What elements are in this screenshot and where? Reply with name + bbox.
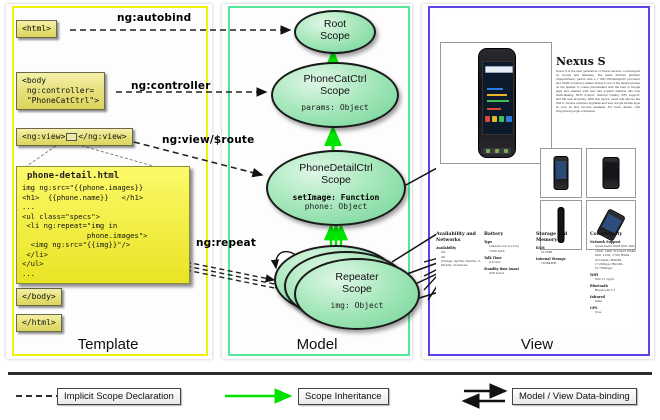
screen-accent-3 <box>487 100 509 102</box>
scope-repeater-line1: Repeater <box>335 271 378 283</box>
spec-header-battery: Battery <box>484 232 532 238</box>
phone-app-icons <box>485 116 512 122</box>
spec-val-bluetooth: Bluetooth 2.1 <box>590 288 636 292</box>
spec-val-battery-talk: 6 hours <box>484 260 532 264</box>
label-ng-view-route: ng:view/$route <box>162 134 254 146</box>
scope-root-line2: Scope <box>320 30 350 42</box>
scope-phonedetailctrl: PhoneDetailCtrlScope setImage: Function … <box>266 150 406 226</box>
thumbnail-2[interactable] <box>586 148 636 198</box>
legend-divider <box>8 372 652 375</box>
spec-val-ram: 512MB <box>536 250 588 254</box>
thumbnail-1[interactable] <box>540 148 582 198</box>
legend-implicit-scope-declaration: Implicit Scope Declaration <box>57 388 181 405</box>
tag-body-close: </body> <box>16 288 62 306</box>
spec-val-network: Quad-band GSM 850, 900, 1800, 1900 Tri-b… <box>590 244 636 270</box>
spec-val-battery-standby: 428 hours <box>484 271 532 275</box>
sticky-note-phone-detail: phone-detail.html img ng:src="{{phone.im… <box>16 166 190 284</box>
scope-cat-line2: Scope <box>320 85 350 97</box>
column-label-view: View <box>428 336 646 353</box>
scope-detail-line2: Scope <box>321 174 351 186</box>
diagram-canvas: <html> <body ng:controller= "PhoneCatCtr… <box>0 0 660 420</box>
phone-screen <box>482 61 514 135</box>
scope-detail-line1: PhoneDetailCtrl <box>299 162 373 174</box>
screen-accent-4 <box>487 108 501 110</box>
product-title: Nexus S <box>556 55 606 68</box>
label-ng-controller: ng:controller <box>131 80 211 92</box>
phone-search-bar <box>485 66 513 73</box>
tag-html-open: <html> <box>16 20 57 38</box>
spec-val-availability-3: Orange, Sprint, Telstra, T-Mobile, Vodaf… <box>436 259 482 268</box>
tag-ngview: <ng:view></ng:view> <box>16 128 133 146</box>
scope-repeater: RepeaterScope img: Object <box>294 258 420 330</box>
spec-val-battery-type-2: 1500 mAh <box>484 249 532 253</box>
scope-phonecatctrl: PhoneCatCtrlScope params: Object <box>271 62 399 128</box>
spec-val-wifi: 802.11 b/g/n <box>590 277 636 281</box>
scope-repeater-attr-img: img: Object <box>296 301 418 311</box>
legend-scope-inheritance: Scope Inheritance <box>298 388 389 405</box>
scope-detail-attr-phone: phone: Object <box>268 202 404 212</box>
spec-column-connectivity: Connectivity Network Support Quad-band G… <box>590 232 636 314</box>
view-placeholder-icon <box>66 133 77 141</box>
ngview-close-label: </ng:view> <box>78 132 126 141</box>
scope-cat-attr-params: params: Object <box>273 103 397 113</box>
tag-html-close: </html> <box>16 314 62 332</box>
spec-header-storage: Storage and Memory <box>536 232 588 244</box>
scope-detail-attr-setimage: setImage: Function <box>268 193 404 203</box>
legend-model-view-data-binding: Model / View Data-binding <box>512 388 637 405</box>
scope-cat-line1: PhoneCatCtrl <box>303 73 366 85</box>
spec-header-availability: Availability and Networks <box>436 232 482 244</box>
ngview-open-label: <ng:view> <box>22 132 65 141</box>
spec-column-battery: Battery Type Lithium Ion (Li-Ion) 1500 m… <box>484 232 532 275</box>
spec-val-gps: true <box>590 310 636 314</box>
spec-val-infrared: false <box>590 299 636 303</box>
spec-column-storage: Storage and Memory RAM 512MB Internal St… <box>536 232 588 266</box>
scope-root-line1: Root <box>324 18 346 30</box>
column-label-template: Template <box>12 336 204 353</box>
spec-header-connectivity: Connectivity <box>590 232 636 238</box>
screen-accent-1 <box>487 88 503 90</box>
label-ng-autobind: ng:autobind <box>117 12 191 24</box>
note-code: img ng:src="{{phone.images}} <h1> {{phon… <box>17 183 189 283</box>
scope-repeater-line2: Scope <box>342 283 372 295</box>
label-ng-repeat: ng:repeat <box>196 237 256 249</box>
phone-button-row <box>483 148 511 154</box>
note-title: phone-detail.html <box>17 167 189 183</box>
column-label-model: Model <box>228 336 406 353</box>
scope-root: RootScope <box>294 10 376 54</box>
tag-body-open: <body ng:controller= "PhoneCatCtrl"> <box>16 72 105 110</box>
phone-hero-image <box>478 48 516 158</box>
spec-column-availability: Availability and Networks Availability 3… <box>436 232 482 268</box>
spec-table: Availability and Networks Availability 3… <box>436 232 636 310</box>
screen-accent-2 <box>487 94 507 96</box>
spec-val-internal: 16384MB <box>536 261 588 265</box>
product-description: Nexus S is the next generation of Nexus … <box>556 70 640 114</box>
